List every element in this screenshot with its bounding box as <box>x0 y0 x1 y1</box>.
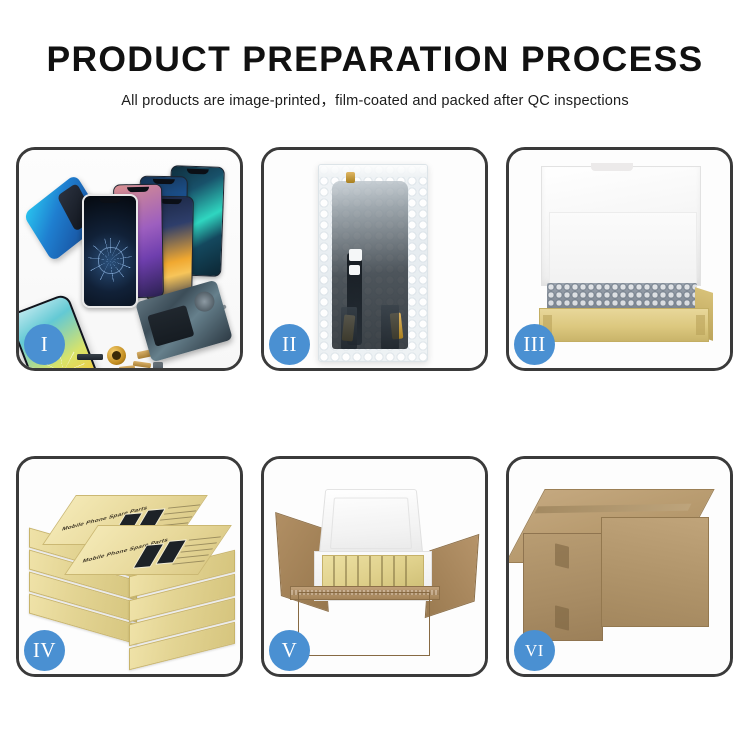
spare-part <box>133 361 152 368</box>
page-root: PRODUCT PREPARATION PROCESS All products… <box>0 0 750 750</box>
box-textline <box>180 548 213 552</box>
box-textline <box>160 516 193 520</box>
cable-end <box>381 305 399 349</box>
box-textline <box>168 504 201 508</box>
notch <box>160 199 182 204</box>
box-textline <box>184 542 217 546</box>
foam-box-lid <box>318 489 424 560</box>
spare-part <box>119 365 135 368</box>
phone-front-glass-cracked <box>82 194 138 308</box>
step-badge-6: VI <box>514 630 555 671</box>
notch <box>187 169 209 175</box>
box-textline <box>172 560 205 564</box>
bubble-wrap-layer <box>547 283 697 311</box>
carton-right-face <box>601 517 709 627</box>
carton-tape-lower <box>555 605 569 630</box>
process-step-1: I <box>16 147 243 371</box>
connector-pad <box>349 249 362 261</box>
page-header: PRODUCT PREPARATION PROCESS All products… <box>0 0 750 110</box>
step-1-image: I <box>19 150 240 368</box>
carton-tape-upper <box>555 543 569 568</box>
box-front-panel <box>539 308 709 342</box>
connector-pad <box>349 265 360 275</box>
process-step-3: III <box>506 147 733 371</box>
step-5-image: V <box>264 459 485 674</box>
step-6-image: VI <box>509 459 730 674</box>
camera-lens-part <box>107 346 126 365</box>
box-textline <box>176 554 209 558</box>
cable-end <box>341 307 357 349</box>
gold-contact <box>346 172 355 183</box>
box-textline <box>188 536 221 540</box>
crack-pattern <box>88 238 132 282</box>
process-step-2: II <box>261 147 488 371</box>
step-4-image: Mobile Phone Spare Parts Mobile Phone Sp… <box>19 459 240 674</box>
spare-part <box>153 362 163 368</box>
carton-flap-right <box>425 534 479 618</box>
step-badge-4: IV <box>24 630 65 671</box>
carton-front <box>298 592 430 656</box>
spare-part <box>77 354 103 360</box>
step-badge-2: II <box>269 324 310 365</box>
box-textline <box>164 510 197 514</box>
foam-sheet <box>549 212 697 288</box>
lid-tab <box>591 163 633 171</box>
process-step-6: VI <box>506 456 733 677</box>
step-2-image: II <box>264 150 485 368</box>
bag-seal <box>319 165 427 177</box>
process-step-4: Mobile Phone Spare Parts Mobile Phone Sp… <box>16 456 243 677</box>
page-subtitle: All products are image-printed，film-coat… <box>0 78 750 110</box>
step-badge-1: I <box>24 324 65 365</box>
process-grid: I II <box>16 147 734 677</box>
step-3-image: III <box>509 150 730 368</box>
process-step-5: V <box>261 456 488 677</box>
bubble-wrap-bag <box>318 164 428 362</box>
step-badge-3: III <box>514 324 555 365</box>
notch <box>99 198 121 203</box>
page-title: PRODUCT PREPARATION PROCESS <box>0 0 750 78</box>
step-badge-5: V <box>269 630 310 671</box>
notch <box>127 187 149 192</box>
